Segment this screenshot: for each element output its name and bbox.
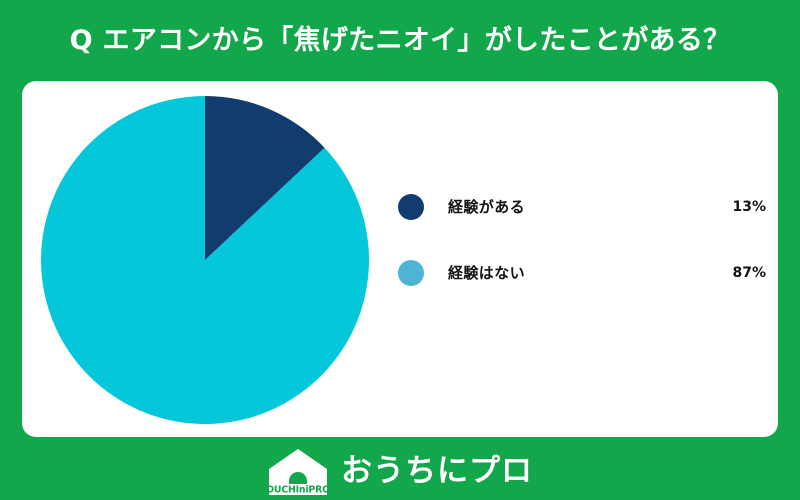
footer-branding: OUCHIniPRO おうちにプロ <box>0 443 800 500</box>
legend-item-label: 経験がある <box>448 200 720 215</box>
poster-root: Q エアコンから「焦げたニオイ」がしたことがある？ 経験がある 13% 経験はな… <box>0 0 800 500</box>
legend-item-value: 13% <box>720 200 766 214</box>
pie-chart-svg <box>41 96 369 424</box>
house-icon: OUCHIniPRO <box>267 448 329 496</box>
legend-item-label: 経験はない <box>448 266 720 281</box>
brand-logo: OUCHIniPRO おうちにプロ <box>267 448 533 496</box>
legend-item-value: 87% <box>720 266 766 280</box>
pie-chart <box>41 96 369 424</box>
title-bar: Q エアコンから「焦げたニオイ」がしたことがある？ <box>0 16 800 64</box>
legend-swatch-icon <box>398 194 424 220</box>
page-title: Q エアコンから「焦げたニオイ」がしたことがある？ <box>70 27 731 54</box>
legend-item-no-experience: 経験はない 87% <box>398 253 766 293</box>
house-icon-svg: OUCHIniPRO <box>267 448 329 496</box>
brand-wordmark: おうちにプロ <box>341 456 533 487</box>
chart-legend: 経験がある 13% 経験はない 87% <box>398 187 766 293</box>
content-card: 経験がある 13% 経験はない 87% <box>22 81 778 437</box>
logo-badge-text: OUCHIniPRO <box>267 484 329 495</box>
legend-swatch-icon <box>398 260 424 286</box>
legend-item-has-experience: 経験がある 13% <box>398 187 766 227</box>
